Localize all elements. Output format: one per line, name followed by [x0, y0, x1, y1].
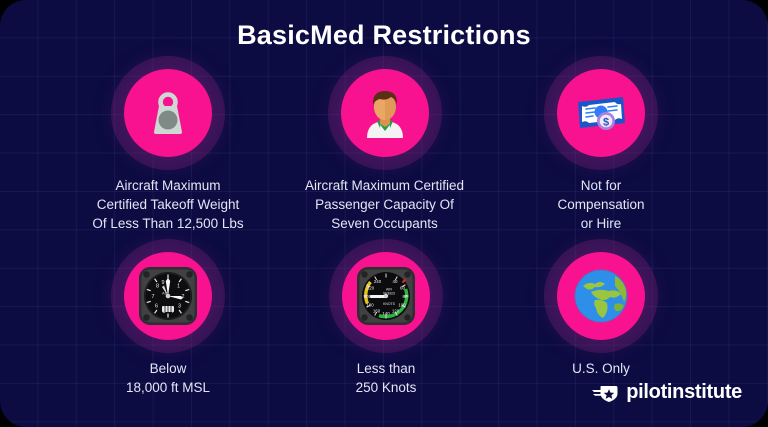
- svg-text:120: 120: [392, 309, 400, 314]
- icon-badge: [124, 69, 212, 157]
- globe-icon: [571, 266, 631, 326]
- restriction-caption: Aircraft Maximum Certified Takeoff Weigh…: [69, 176, 267, 233]
- airspeed-indicator-icon: 40 60 80 100 120 140 160 180 200 220 240…: [355, 265, 417, 327]
- svg-text:60: 60: [400, 286, 405, 291]
- svg-text:6: 6: [155, 304, 158, 310]
- restriction-caption: Aircraft Maximum Certified Passenger Cap…: [272, 176, 497, 233]
- svg-text:$: $: [603, 116, 609, 128]
- restriction-item-us-only: U.S. Only: [526, 252, 676, 378]
- icon-badge: [341, 69, 429, 157]
- svg-text:180: 180: [366, 303, 374, 308]
- svg-text:220: 220: [367, 286, 375, 291]
- svg-text:160: 160: [373, 309, 381, 314]
- icon-badge: 40 60 80 100 120 140 160 180 200 220 240…: [342, 252, 430, 340]
- icon-badge: $: [557, 69, 645, 157]
- svg-text:8: 8: [156, 284, 159, 290]
- restriction-caption: Less than 250 Knots: [311, 359, 461, 397]
- svg-text:40: 40: [393, 279, 398, 284]
- page-title: BasicMed Restrictions: [0, 20, 768, 51]
- restriction-item-compensation: $ Not for Compensation or Hire: [516, 69, 686, 233]
- weight-icon: [142, 87, 194, 139]
- restriction-item-altitude: 0 1 2 3 4 5 6 7 8 9 ALT: [93, 252, 243, 397]
- pilot-institute-logo: pilotinstitute: [592, 381, 742, 404]
- restriction-caption: U.S. Only: [526, 359, 676, 378]
- icon-badge: 0 1 2 3 4 5 6 7 8 9 ALT: [124, 252, 212, 340]
- icon-badge: [557, 252, 645, 340]
- svg-text:240: 240: [374, 279, 382, 284]
- svg-text:1: 1: [177, 284, 180, 290]
- restriction-caption: Not for Compensation or Hire: [516, 176, 686, 233]
- restriction-item-passenger: Aircraft Maximum Certified Passenger Cap…: [272, 69, 497, 233]
- altimeter-icon: 0 1 2 3 4 5 6 7 8 9 ALT: [137, 265, 199, 327]
- svg-text:7: 7: [152, 294, 155, 300]
- svg-text:9: 9: [162, 280, 165, 286]
- svg-text:100: 100: [398, 303, 406, 308]
- svg-text:140: 140: [382, 311, 390, 316]
- svg-text:3: 3: [178, 304, 181, 310]
- svg-text:2: 2: [182, 294, 185, 300]
- restriction-item-airspeed: 40 60 80 100 120 140 160 180 200 220 240…: [311, 252, 461, 397]
- svg-text:80: 80: [403, 294, 408, 299]
- svg-text:KNOTS: KNOTS: [383, 302, 395, 306]
- passenger-icon: [356, 84, 414, 142]
- pilot-institute-winged-badge-icon: [592, 383, 619, 403]
- logo-wordmark: pilotinstitute: [626, 381, 742, 404]
- infographic-card: BasicMed Restrictions Aircraft Maximum C…: [0, 0, 768, 427]
- money-icon: $: [573, 85, 629, 141]
- restriction-caption: Below 18,000 ft MSL: [93, 359, 243, 397]
- restriction-item-weight: Aircraft Maximum Certified Takeoff Weigh…: [69, 69, 267, 233]
